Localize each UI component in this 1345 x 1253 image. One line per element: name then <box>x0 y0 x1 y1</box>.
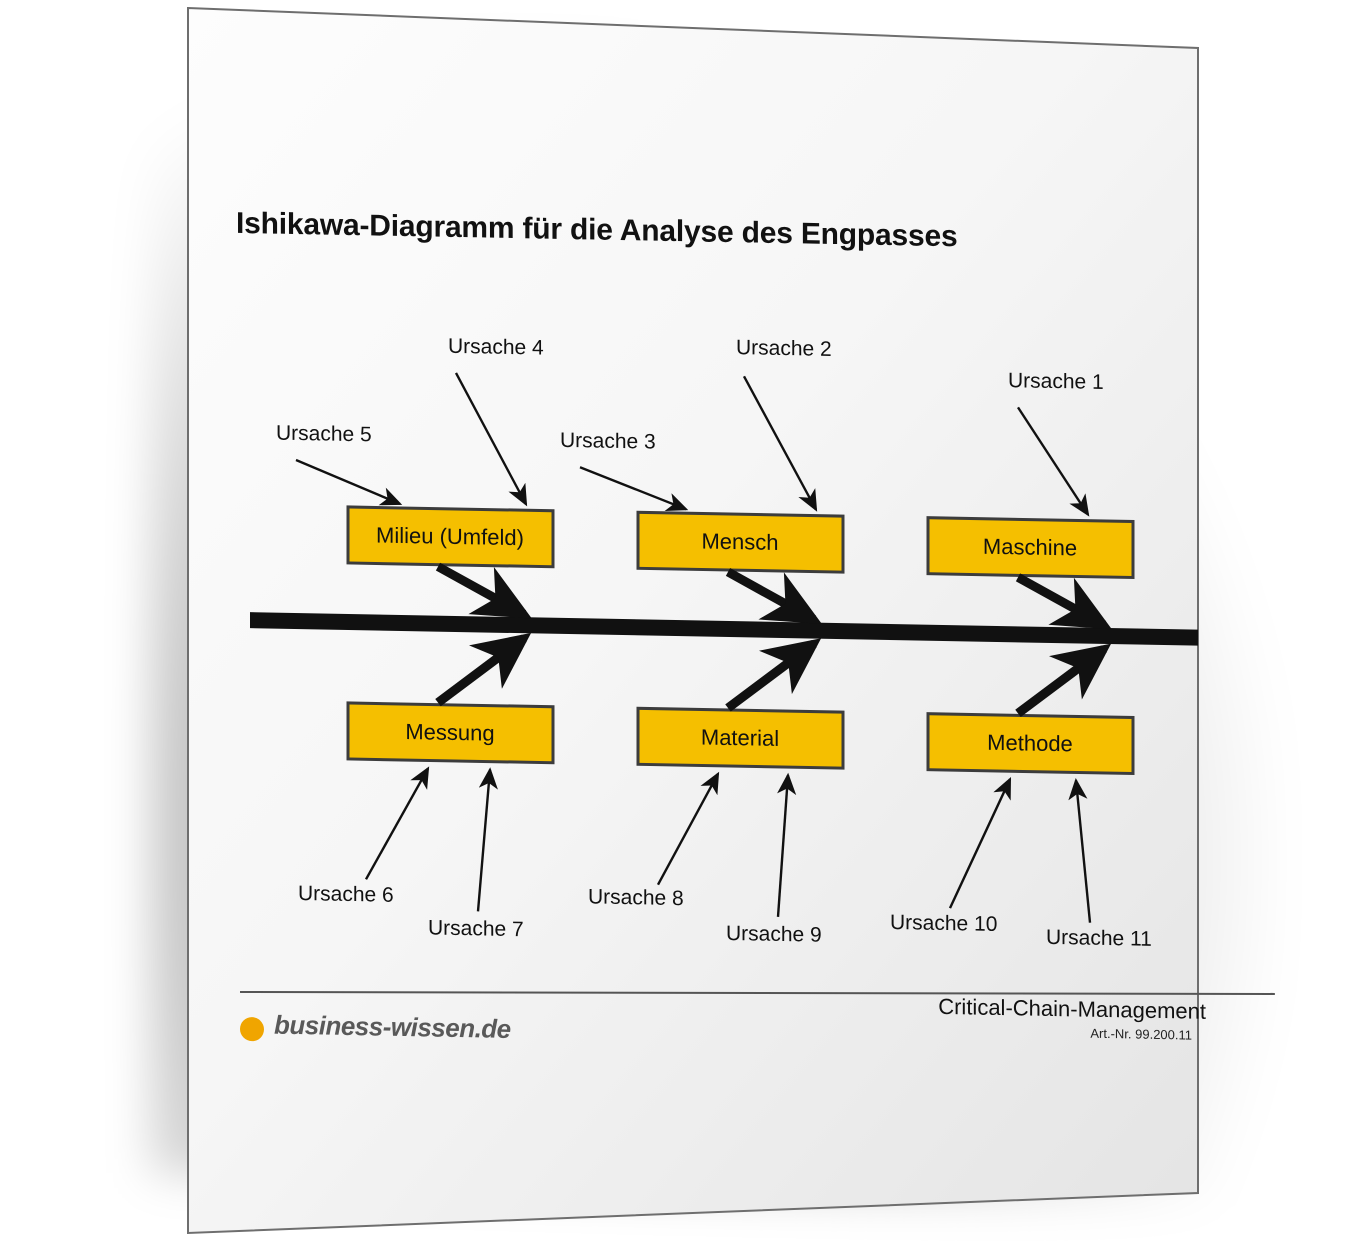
category-box-label: Milieu (Umfeld) <box>376 522 524 550</box>
brand-name: business-wissen.de <box>274 1010 511 1045</box>
cause-label-ursache-10: Ursache 10 <box>890 911 997 936</box>
cause-arrows-bottom <box>366 767 1090 922</box>
article-number: Art.-Nr. 99.200.11 <box>1090 1026 1192 1043</box>
category-box-milieu[interactable]: Milieu (Umfeld) <box>348 507 553 567</box>
spine-group <box>250 601 1198 661</box>
cause-arrow-8 <box>658 773 718 886</box>
bone-mensch <box>728 572 814 620</box>
bone-methode <box>1018 647 1104 715</box>
cause-arrow-5 <box>296 460 400 504</box>
category-box-mensch[interactable]: Mensch <box>638 512 843 572</box>
cause-label-ursache-4: Ursache 4 <box>448 335 544 360</box>
cause-arrow-3 <box>580 467 686 509</box>
cause-arrow-2 <box>744 376 816 509</box>
category-box-methode[interactable]: Methode <box>928 714 1133 774</box>
cause-label-ursache-2: Ursache 2 <box>736 336 832 361</box>
cause-label-ursache-1: Ursache 1 <box>1008 369 1104 394</box>
cause-arrow-10 <box>950 778 1010 909</box>
bone-milieu <box>438 567 524 615</box>
cause-label-ursache-8: Ursache 8 <box>588 885 684 910</box>
ishikawa-diagram: Milieu (Umfeld) Mensch Maschine Messung … <box>188 308 1198 967</box>
cause-arrow-4 <box>456 373 526 504</box>
category-box-label: Mensch <box>701 529 778 555</box>
bone-messung <box>438 637 524 705</box>
cause-arrow-9 <box>778 775 788 917</box>
bone-maschine <box>1018 577 1104 625</box>
page-title: Ishikawa-Diagramm für die Analyse des En… <box>236 207 957 254</box>
category-box-maschine[interactable]: Maschine <box>928 518 1133 578</box>
footer-divider <box>240 991 1275 995</box>
document-title: Critical-Chain-Management <box>938 994 1206 1025</box>
cause-label-ursache-6: Ursache 6 <box>298 882 394 907</box>
cause-label-ursache-7: Ursache 7 <box>428 916 524 941</box>
category-box-messung[interactable]: Messung <box>348 703 553 763</box>
spine-bar <box>250 612 1198 649</box>
page-content: Ishikawa-Diagramm für die Analyse des En… <box>188 8 1198 1252</box>
cause-label-ursache-11: Ursache 11 <box>1046 926 1152 951</box>
category-box-label: Messung <box>405 719 494 746</box>
cause-label-ursache-5: Ursache 5 <box>276 422 372 447</box>
cause-arrows-top <box>296 368 1088 517</box>
cause-label-ursache-9: Ursache 9 <box>726 922 822 947</box>
cause-arrow-1 <box>1018 407 1088 514</box>
cause-arrow-7 <box>478 769 490 911</box>
category-box-material[interactable]: Material <box>638 708 843 768</box>
cause-arrow-11 <box>1076 780 1090 922</box>
cause-arrow-6 <box>366 767 428 880</box>
category-box-label: Maschine <box>983 534 1077 561</box>
category-box-label: Material <box>701 724 779 750</box>
brand-dot-icon <box>240 1017 264 1041</box>
cause-label-ursache-3: Ursache 3 <box>560 429 656 454</box>
category-box-label: Methode <box>987 730 1073 757</box>
bone-material <box>728 642 814 710</box>
